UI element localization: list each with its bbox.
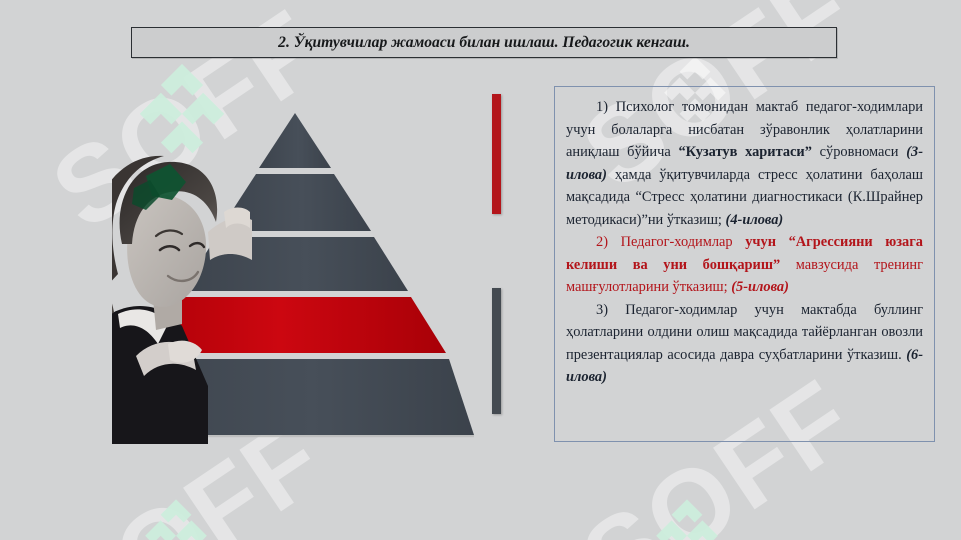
soff-logo-mark-icon	[652, 498, 722, 540]
annex-reference: (4-илова)	[726, 212, 784, 228]
page-title: 2. Ўқитувчилар жамоаси билан ишлаш. Педа…	[278, 34, 690, 52]
woman-holding-pyramid-photo	[112, 148, 252, 444]
body-text: 2) Педагог-ходимлар	[596, 234, 745, 250]
annex-reference: (5-илова)	[731, 279, 789, 295]
dark-accent-bar	[492, 288, 501, 414]
content-panel: 1) Психолог томонидан мактаб педагог-ход…	[554, 86, 935, 442]
emphasised-text: “Кузатув харитаси”	[678, 144, 811, 160]
presentation-slide: SOFF SOFF SOFF SOFF	[0, 0, 961, 540]
paragraph-3: 3) Педагог-ходимлар учун мактабда буллин…	[566, 299, 923, 389]
red-accent-bar	[492, 94, 501, 214]
paragraph-1: 1) Психолог томонидан мактаб педагог-ход…	[566, 96, 923, 231]
slide-title-box: 2. Ўқитувчилар жамоаси билан ишлаш. Педа…	[131, 27, 837, 58]
body-text: сўровномаси	[812, 144, 906, 160]
paragraph-2: 2) Педагог-ходимлар учун “Агрессияни юза…	[566, 231, 923, 299]
pyramid-layer-1	[259, 113, 331, 168]
body-text: 3) Педагог-ходимлар учун мактабда буллин…	[566, 302, 923, 363]
soff-logo-mark-icon	[141, 498, 211, 540]
